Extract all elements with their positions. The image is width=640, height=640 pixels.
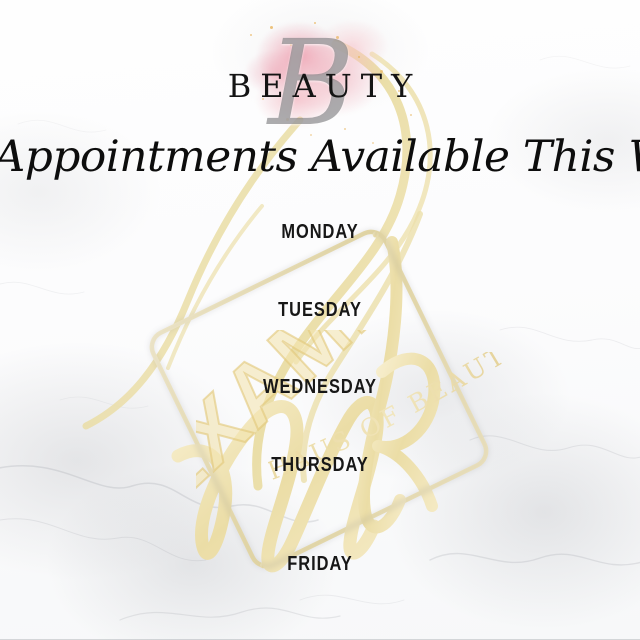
weekday-item-thursday[interactable]: THURSDAY [58, 455, 583, 475]
weekday-list: MONDAY TUESDAY WEDNESDAY THURSDAY FRIDAY [0, 206, 640, 574]
headline-script: Appointments Available This Week [0, 134, 640, 180]
poster-canvas: HAUS OF BEAUTY EXAMPLE ONLY B BEAUTY App… [0, 0, 640, 640]
weekday-item-tuesday[interactable]: TUESDAY [58, 300, 583, 320]
page-title-beauty: BEAUTY [0, 70, 640, 102]
weekday-item-monday[interactable]: MONDAY [58, 222, 583, 242]
weekday-item-wednesday[interactable]: WEDNESDAY [58, 377, 583, 397]
weekday-item-friday[interactable]: FRIDAY [58, 554, 583, 574]
